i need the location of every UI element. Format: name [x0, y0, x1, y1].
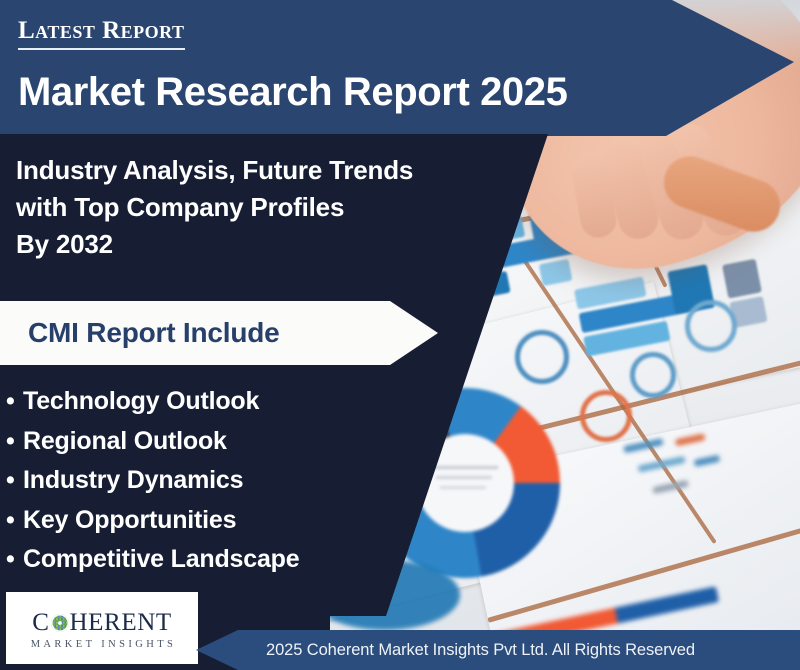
list-item: Technology Outlook	[6, 382, 299, 422]
list-item: Regional Outlook	[6, 422, 299, 462]
list-item: Key Opportunities	[6, 501, 299, 541]
cmi-report-include-label: CMI Report Include	[28, 317, 280, 349]
printed-ring-icon	[515, 330, 569, 384]
list-item: Industry Dynamics	[6, 461, 299, 501]
printed-ring-icon	[630, 352, 676, 398]
coherent-market-insights-logo: C HERENT MARKET INSIGHTS	[6, 592, 198, 664]
subtitle-line-3: By 2032	[16, 226, 413, 263]
logo-letter-c: C	[32, 610, 49, 635]
printed-ring-icon	[685, 300, 737, 352]
logo-letters-herent: HERENT	[70, 610, 172, 635]
report-includes-list: Technology Outlook Regional Outlook Indu…	[6, 382, 299, 580]
subtitle-block: Industry Analysis, Future Trends with To…	[16, 152, 413, 263]
kicker-label: Latest Report	[18, 18, 185, 50]
footer-band: 2025 Coherent Market Insights Pvt Ltd. A…	[196, 630, 800, 670]
logo-wordmark: C HERENT	[32, 610, 171, 635]
logo-globe-icon	[51, 614, 69, 632]
logo-tagline: MARKET INSIGHTS	[28, 639, 177, 650]
cmi-report-include-banner: CMI Report Include	[0, 301, 440, 365]
printed-ring-icon	[580, 390, 632, 442]
subtitle-line-2: with Top Company Profiles	[16, 189, 413, 226]
subtitle-line-1: Industry Analysis, Future Trends	[16, 152, 413, 189]
page-title: Market Research Report 2025	[18, 70, 567, 115]
list-item: Competitive Landscape	[6, 540, 299, 580]
copyright-text: 2025 Coherent Market Insights Pvt Ltd. A…	[266, 641, 695, 660]
report-poster: Latest Report Market Research Report 202…	[0, 0, 800, 670]
